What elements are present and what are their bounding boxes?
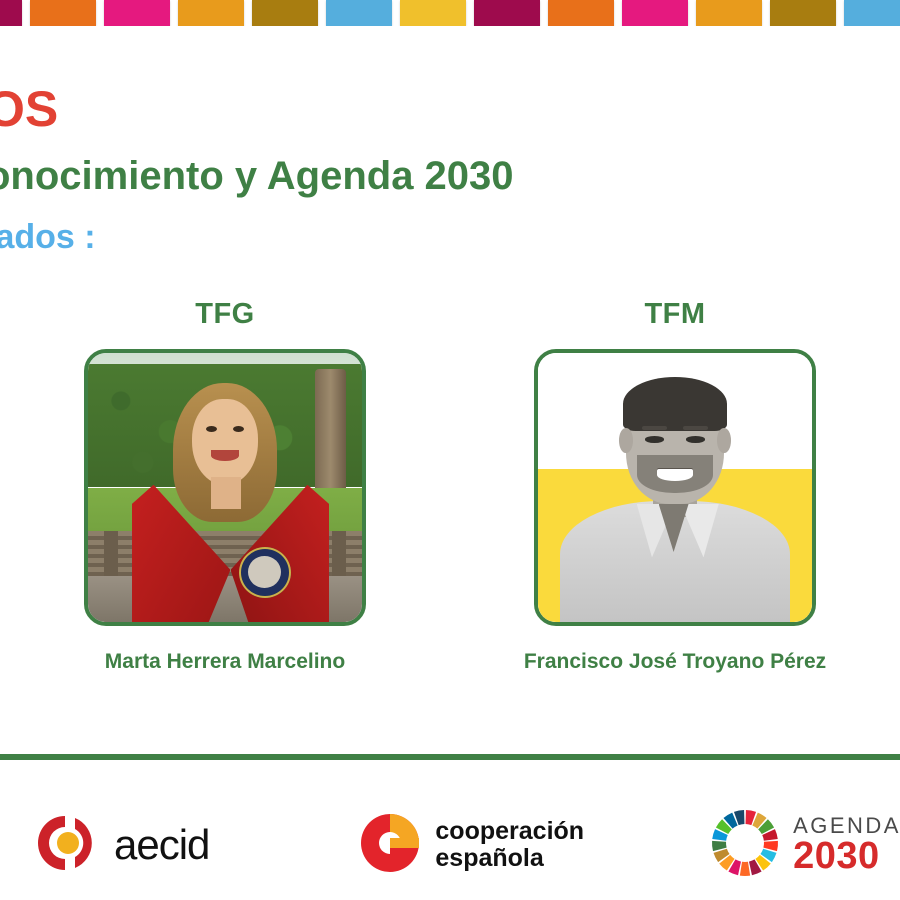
color-swatch (0, 0, 22, 26)
agenda-line1: AGENDA (793, 815, 900, 837)
headline-block: OS onocimiento y Agenda 2030 iados : (0, 84, 900, 254)
award-name-tfg: Marta Herrera Marcelino (105, 650, 345, 674)
color-swatch (104, 0, 170, 26)
color-swatch (30, 0, 96, 26)
agenda-line2: 2030 (793, 837, 900, 875)
award-photo-tfg (84, 349, 366, 626)
cooperacion-line1: cooperación (435, 817, 584, 845)
logo-aecid: aecid (28, 810, 209, 881)
award-photo-tfm (534, 349, 816, 626)
aecid-mark-icon (28, 810, 102, 881)
headline-green-line: onocimiento y Agenda 2030 (0, 156, 900, 196)
cooperacion-line2: española (435, 844, 543, 872)
color-swatch (178, 0, 244, 26)
color-swatch (326, 0, 392, 26)
cooperacion-wordmark: cooperación española (435, 818, 584, 872)
color-swatch (252, 0, 318, 26)
agenda-wordmark: AGENDA 2030 (793, 815, 900, 875)
aecid-wordmark: aecid (114, 821, 209, 869)
graduation-photo-illustration (88, 353, 362, 622)
color-swatch (622, 0, 688, 26)
decorative-color-strip (0, 0, 900, 26)
award-label-tfm: TFM (644, 298, 705, 331)
award-column-tfg: TFG Marta (0, 298, 450, 674)
green-divider (0, 754, 900, 760)
color-swatch (400, 0, 466, 26)
sdg-color-wheel-icon (709, 807, 781, 884)
headline-red-line: OS (0, 84, 900, 134)
awards-section: TFG Marta (0, 298, 900, 674)
award-column-tfm: TFM Francisco José (450, 298, 900, 674)
color-swatch (474, 0, 540, 26)
award-label-tfg: TFG (195, 298, 255, 331)
cooperacion-e-mark-icon (359, 812, 421, 879)
footer-logo-bar: aecid cooperación española AGENDA 2030 (0, 790, 900, 900)
logo-cooperacion-espanola: cooperación española (359, 812, 584, 879)
color-swatch (696, 0, 762, 26)
color-swatch (548, 0, 614, 26)
color-swatch (844, 0, 900, 26)
headline-blue-line: iados : (0, 220, 900, 254)
award-name-tfm: Francisco José Troyano Pérez (524, 650, 826, 674)
logo-agenda-2030: AGENDA 2030 (709, 807, 900, 884)
portrait-photo-illustration (538, 353, 812, 622)
color-swatch (770, 0, 836, 26)
